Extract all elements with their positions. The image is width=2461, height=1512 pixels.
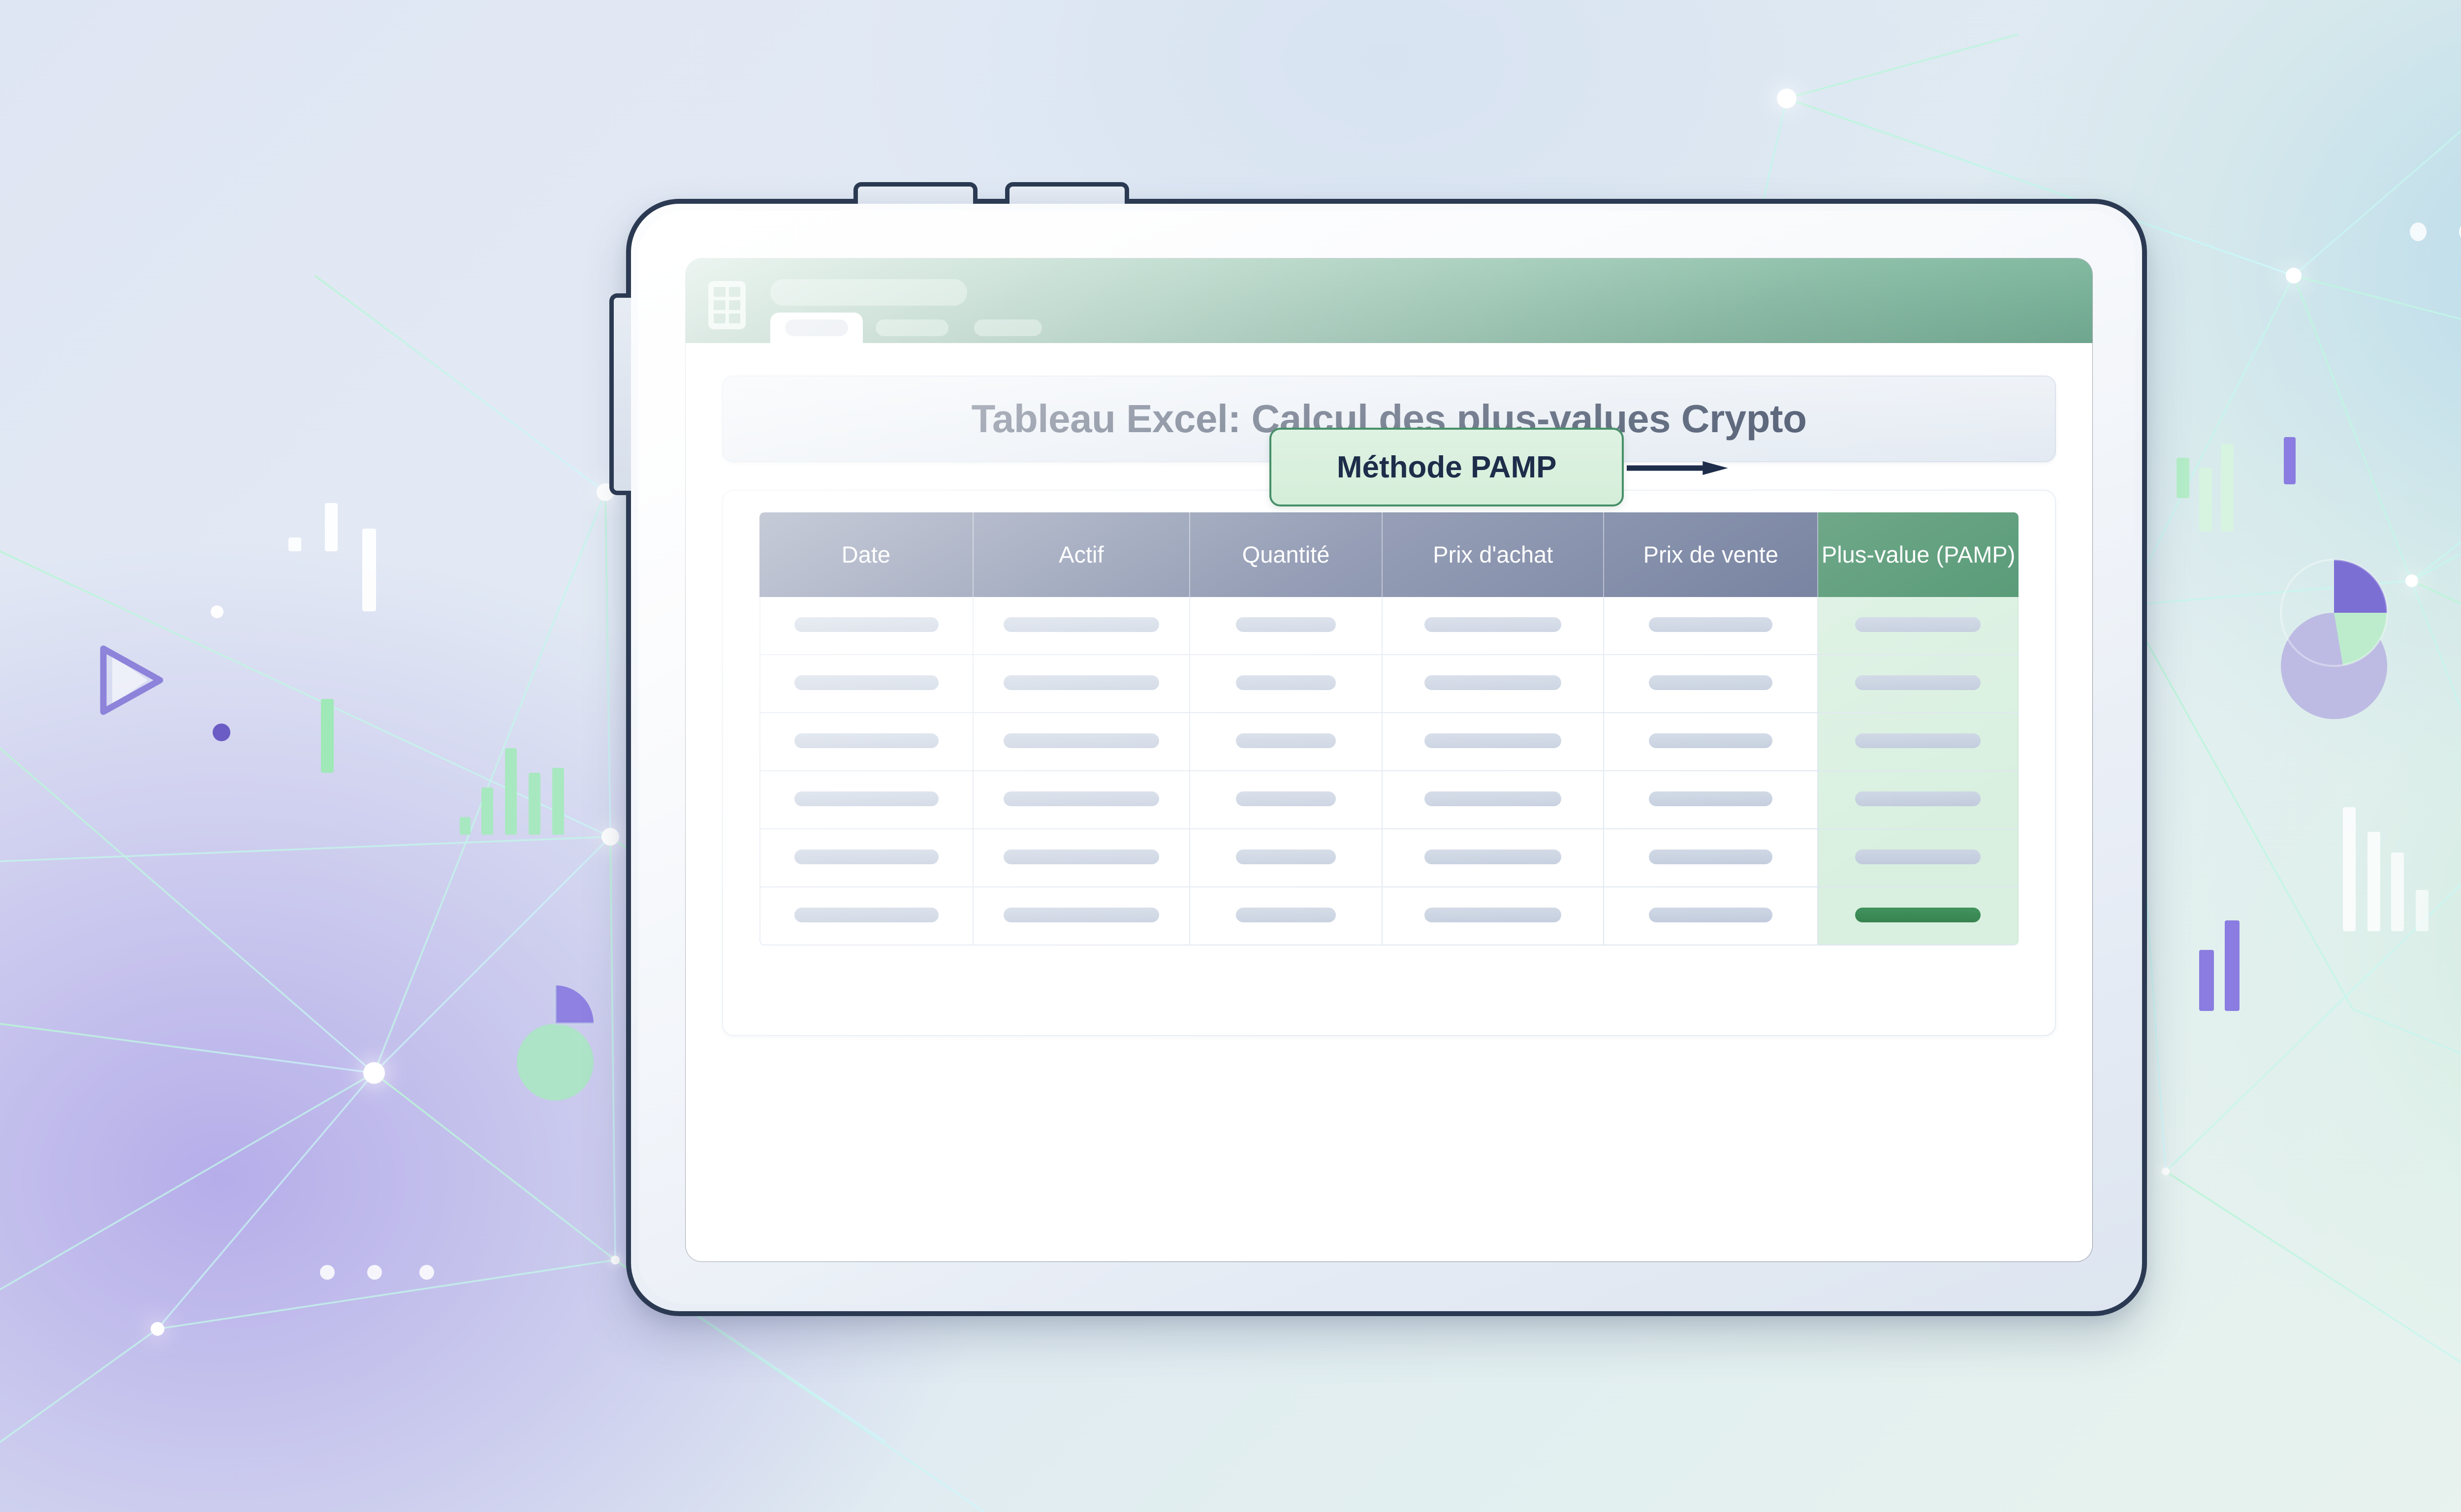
table-row[interactable]: [759, 771, 2019, 829]
column-header-plus-value-pamp[interactable]: Plus-value (PAMP): [1818, 512, 2019, 597]
cell-value-placeholder: [794, 617, 939, 632]
cell-value-placeholder: [1855, 733, 1981, 748]
cell-value-placeholder: [794, 791, 939, 806]
screenshot-stage: Tableau Excel: Calcul des plus-values Cr…: [0, 0, 2461, 1512]
table-cell-prix-achat[interactable]: [1383, 713, 1604, 771]
table-cell-prix-vente[interactable]: [1604, 655, 1818, 713]
table-cell-plus-value[interactable]: [1818, 829, 2019, 887]
table-header-row: Date Actif Quantité Prix d'achat Prix de…: [759, 512, 2019, 597]
column-header-date[interactable]: Date: [759, 512, 974, 597]
dot-decoration: [213, 724, 230, 741]
cell-value-placeholder: [1424, 617, 1561, 632]
bar-decoration: [288, 537, 301, 551]
power-button[interactable]: [609, 293, 631, 495]
column-header-prix-vente[interactable]: Prix de vente: [1604, 512, 1818, 597]
table-cell-actif[interactable]: [974, 655, 1190, 713]
cell-value-highlight: [1855, 908, 1981, 922]
methode-pamp-label: Méthode PAMP: [1337, 450, 1557, 485]
table-cell-prix-vente[interactable]: [1604, 829, 1818, 887]
sheet-tab-label-placeholder: [876, 319, 948, 336]
dot-decoration: [2410, 222, 2427, 241]
bar-decoration: [529, 773, 540, 835]
bar-decoration: [481, 787, 493, 835]
cell-value-placeholder: [1236, 791, 1335, 806]
cell-value-placeholder: [1424, 791, 1561, 806]
bar-decoration: [325, 503, 338, 551]
cell-value-placeholder: [1004, 617, 1159, 632]
table-cell-date[interactable]: [759, 829, 974, 887]
dot-decoration: [320, 1265, 335, 1280]
table-cell-plus-value[interactable]: [1818, 771, 2019, 829]
table-cell-date[interactable]: [759, 771, 974, 829]
dot-decoration: [211, 605, 223, 618]
bar-decoration: [2391, 852, 2404, 931]
cell-value-placeholder: [1424, 733, 1561, 748]
column-header-prix-achat[interactable]: Prix d'achat: [1383, 512, 1604, 597]
table-row[interactable]: [759, 655, 2019, 713]
bar-decoration: [2284, 437, 2296, 484]
sheet-tab-strip: [770, 313, 1055, 343]
triangle-outline-decoration: [103, 649, 160, 712]
volume-down-button[interactable]: [1005, 182, 1129, 204]
tablet-device: Tableau Excel: Calcul des plus-values Cr…: [626, 199, 2147, 1316]
cell-value-placeholder: [1649, 617, 1772, 632]
cell-value-placeholder: [1004, 675, 1159, 690]
cell-value-placeholder: [1236, 908, 1335, 922]
app-title-placeholder: [770, 279, 967, 306]
table-cell-quantite[interactable]: [1190, 713, 1383, 771]
column-header-quantite[interactable]: Quantité: [1190, 512, 1383, 597]
cell-value-placeholder: [1855, 675, 1981, 690]
table-cell-prix-achat[interactable]: [1383, 655, 1604, 713]
cell-value-placeholder: [1424, 850, 1561, 864]
table-card: Date Actif Quantité Prix d'achat Prix de…: [722, 490, 2056, 1036]
document-body: Tableau Excel: Calcul des plus-values Cr…: [686, 343, 2092, 1036]
bar-decoration: [2199, 950, 2214, 1011]
dot-decoration: [419, 1265, 434, 1280]
table-cell-plus-value[interactable]: [1818, 597, 2019, 655]
cell-value-placeholder: [794, 908, 939, 922]
table-cell-plus-value-total[interactable]: [1818, 887, 2019, 945]
sheet-tab-active[interactable]: [770, 313, 863, 343]
cell-value-placeholder: [1236, 617, 1335, 632]
table-cell-quantite[interactable]: [1190, 829, 1383, 887]
table-cell-prix-vente[interactable]: [1604, 771, 1818, 829]
table-cell-actif[interactable]: [974, 887, 1190, 945]
table-cell-date[interactable]: [759, 655, 974, 713]
table-cell-quantite[interactable]: [1190, 597, 1383, 655]
crypto-gains-table: Date Actif Quantité Prix d'achat Prix de…: [759, 512, 2019, 945]
table-body: [759, 597, 2019, 945]
cell-value-placeholder: [1855, 617, 1981, 632]
dot-decoration: [367, 1265, 382, 1280]
cell-value-placeholder: [1855, 850, 1981, 864]
sheet-tab-label-placeholder: [785, 319, 848, 336]
table-cell-quantite[interactable]: [1190, 771, 1383, 829]
bar-decoration: [2221, 444, 2234, 532]
spreadsheet-grid-icon[interactable]: [708, 281, 746, 329]
table-cell-date[interactable]: [759, 887, 974, 945]
table-cell-date[interactable]: [759, 597, 974, 655]
table-cell-actif[interactable]: [974, 829, 1190, 887]
table-cell-actif[interactable]: [974, 713, 1190, 771]
table-cell-prix-vente[interactable]: [1604, 713, 1818, 771]
table-cell-prix-vente[interactable]: [1604, 597, 1818, 655]
table-cell-quantite[interactable]: [1190, 887, 1383, 945]
bar-decoration: [2199, 468, 2212, 532]
cell-value-placeholder: [1649, 791, 1772, 806]
table-cell-actif[interactable]: [974, 771, 1190, 829]
bar-decoration: [362, 529, 376, 611]
cell-value-placeholder: [1236, 675, 1335, 690]
column-header-actif[interactable]: Actif: [974, 512, 1190, 597]
table-cell-date[interactable]: [759, 713, 974, 771]
cell-value-placeholder: [1004, 733, 1159, 748]
pie-chart-decoration-left: [517, 985, 594, 1101]
cell-value-placeholder: [1004, 850, 1159, 864]
cell-value-placeholder: [1649, 733, 1772, 748]
pie-chart-decoration-right: [2281, 560, 2387, 719]
cell-value-placeholder: [1236, 850, 1335, 864]
app-toolbar: [686, 258, 2092, 343]
table-cell-prix-achat[interactable]: [1383, 829, 1604, 887]
tablet-screen: Tableau Excel: Calcul des plus-values Cr…: [685, 258, 2093, 1262]
bar-decoration: [2343, 807, 2356, 931]
bar-decoration: [505, 748, 517, 835]
table-row[interactable]: [759, 713, 2019, 771]
cell-value-placeholder: [1004, 791, 1159, 806]
arrow-right-icon: [1627, 461, 1728, 475]
cell-value-placeholder: [1649, 675, 1772, 690]
bar-decoration: [2225, 920, 2240, 1011]
cell-value-placeholder: [794, 733, 939, 748]
table-cell-actif[interactable]: [974, 597, 1190, 655]
table-row[interactable]: [759, 887, 2019, 945]
cell-value-placeholder: [1855, 791, 1981, 806]
methode-pamp-callout: Méthode PAMP: [1269, 428, 1624, 506]
cell-value-placeholder: [1649, 850, 1772, 864]
bar-decoration: [2177, 458, 2189, 498]
table-cell-plus-value[interactable]: [1818, 655, 2019, 713]
bar-decoration: [321, 699, 334, 773]
cell-value-placeholder: [1649, 908, 1772, 922]
cell-value-placeholder: [1004, 908, 1159, 922]
cell-value-placeholder: [794, 675, 939, 690]
table-cell-prix-vente[interactable]: [1604, 887, 1818, 945]
cell-value-placeholder: [1424, 908, 1561, 922]
sheet-tab-2[interactable]: [863, 313, 961, 343]
bar-decoration: [2367, 832, 2380, 931]
table-cell-prix-achat[interactable]: [1383, 771, 1604, 829]
table-cell-prix-achat[interactable]: [1383, 887, 1604, 945]
table-row[interactable]: [759, 597, 2019, 655]
bar-decoration: [460, 817, 471, 835]
table-cell-plus-value[interactable]: [1818, 713, 2019, 771]
sheet-tab-label-placeholder: [974, 319, 1042, 336]
cell-value-placeholder: [794, 850, 939, 864]
cell-value-placeholder: [1236, 733, 1335, 748]
table-cell-quantite[interactable]: [1190, 655, 1383, 713]
bar-decoration: [552, 768, 564, 835]
sheet-tab-3[interactable]: [961, 313, 1055, 343]
volume-up-button[interactable]: [853, 182, 978, 204]
table-row[interactable]: [759, 829, 2019, 887]
cell-value-placeholder: [1424, 675, 1561, 690]
table-cell-prix-achat[interactable]: [1383, 597, 1604, 655]
bar-decoration: [2416, 890, 2429, 931]
